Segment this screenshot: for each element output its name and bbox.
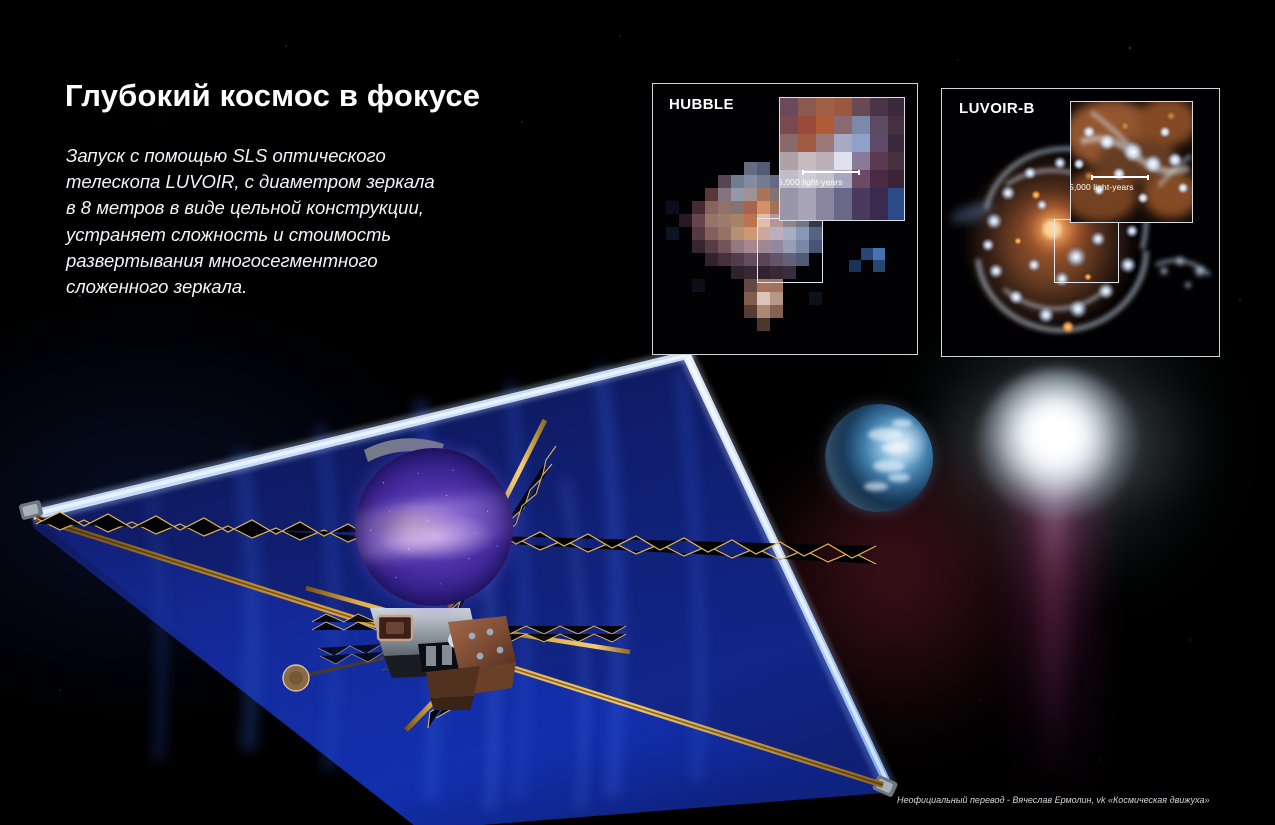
hubble-roi-rectangle bbox=[757, 218, 823, 283]
description-line: в 8 метров в виде цельной конструкции, bbox=[66, 195, 536, 221]
luvoir-roi-rectangle bbox=[1054, 219, 1119, 283]
panel-label-luvoir: LUVOIR-B bbox=[959, 100, 1035, 117]
luvoir-scale-bar: 5,000 light-years bbox=[1091, 175, 1149, 192]
monolithic-primary-mirror bbox=[355, 448, 513, 606]
luvoir-zoom-inset: 5,000 light-years bbox=[1070, 101, 1193, 223]
hubble-scale-label: 5,000 light-years bbox=[779, 177, 860, 187]
translation-credit: Неофициальный перевод - Вячеслав Ермолин… bbox=[897, 795, 1210, 805]
comparison-panel-luvoir: 5,000 light-years LUVOIR-B bbox=[941, 88, 1220, 357]
description-line: Запуск с помощью SLS оптического bbox=[66, 143, 536, 169]
luvoir-scale-label: 5,000 light-years bbox=[1070, 182, 1149, 192]
page-title: Глубокий космос в фокусе bbox=[65, 78, 480, 114]
infographic-canvas: Глубокий космос в фокусе Запуск с помощь… bbox=[0, 0, 1275, 825]
comparison-panel-hubble: 5,000 light-years HUBBLE bbox=[652, 83, 918, 355]
spacecraft-bus bbox=[370, 608, 516, 710]
hubble-zoom-inset: 5,000 light-years bbox=[779, 97, 905, 221]
panel-label-hubble: HUBBLE bbox=[669, 96, 734, 113]
description-line: развертывания многосегментного bbox=[66, 248, 536, 274]
description-paragraph: Запуск с помощью SLS оптического телеско… bbox=[66, 143, 536, 300]
description-line: сложенного зеркала. bbox=[66, 274, 536, 300]
description-line: устраняет сложность и стоимость bbox=[66, 222, 536, 248]
description-line: телескопа LUVOIR, с диаметром зеркала bbox=[66, 169, 536, 195]
hubble-scale-bar: 5,000 light-years bbox=[802, 170, 860, 187]
